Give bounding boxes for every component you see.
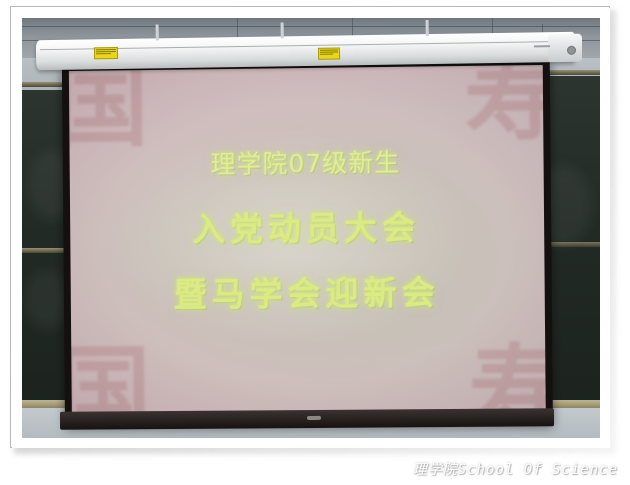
screen-weight-bar [60,408,554,429]
photo-frame: 国 寿 国 寿 理学院07级新生 入党动员大会 暨马学会迎新会 [0,0,630,485]
classroom-photograph: 国 寿 国 寿 理学院07级新生 入党动员大会 暨马学会迎新会 [22,18,600,438]
roller-vent-slot [534,45,550,47]
watermark-english: School Of Science [458,462,618,478]
slide-vignette [69,65,546,419]
roller-knob-icon [567,46,576,55]
warning-label-center [318,47,340,59]
warning-label-left [94,47,118,59]
watermark-caption: 理学院School Of Science [413,459,618,479]
projected-slide: 国 寿 国 寿 理学院07级新生 入党动员大会 暨马学会迎新会 [69,65,546,419]
projection-screen-frame: 国 寿 国 寿 理学院07级新生 入党动员大会 暨马学会迎新会 [62,59,553,425]
screen-pull-tab [307,416,321,420]
roller-end-cap [548,34,582,63]
watermark-chinese: 理学院 [413,462,458,478]
